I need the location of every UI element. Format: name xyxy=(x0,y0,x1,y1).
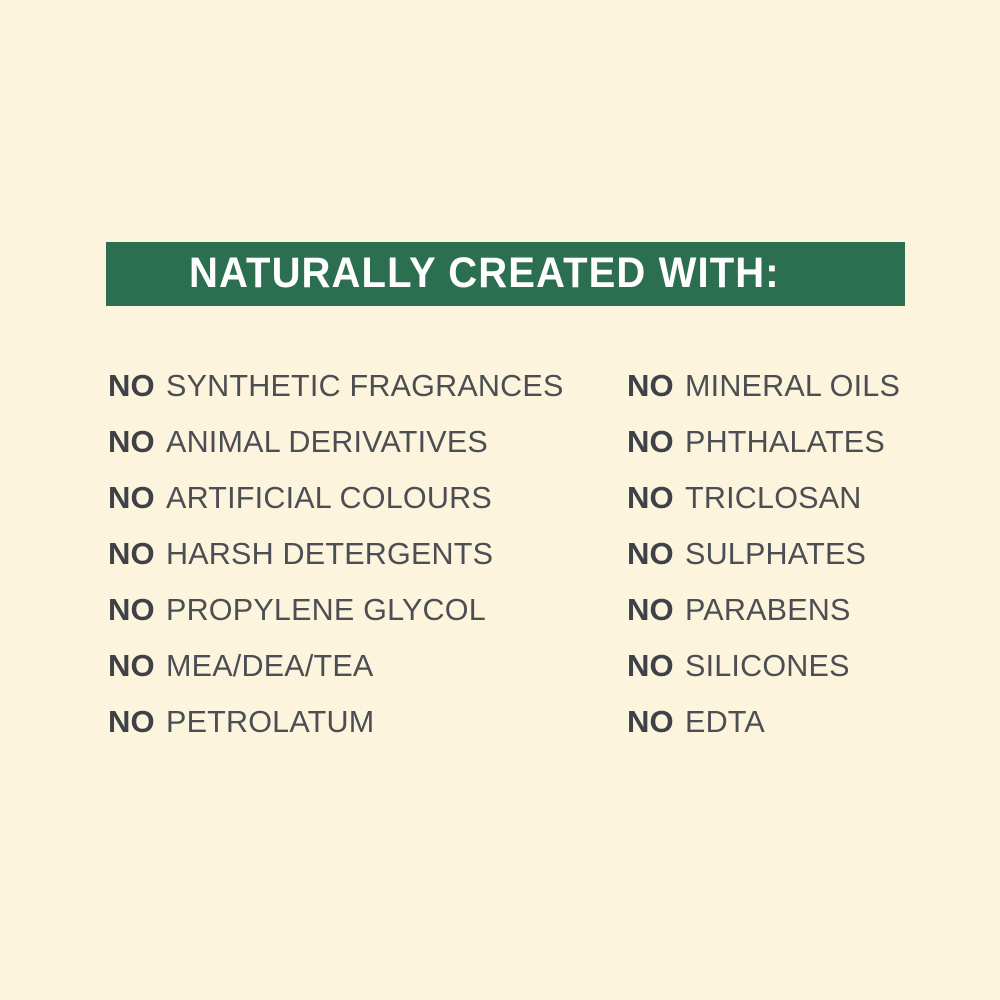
exclusion-label: SILICONES xyxy=(685,648,850,684)
list-item: NO SYNTHETIC FRAGRANCES xyxy=(108,368,569,424)
no-prefix-label: NO xyxy=(627,424,674,460)
exclusion-label: PROPYLENE GLYCOL xyxy=(166,592,486,628)
no-prefix-label: NO xyxy=(108,368,155,404)
list-item: NO HARSH DETERGENTS xyxy=(108,536,569,592)
exclusion-label: ANIMAL DERIVATIVES xyxy=(166,424,488,460)
exclusion-label: MINERAL OILS xyxy=(685,368,900,404)
exclusion-label: PHTHALATES xyxy=(685,424,885,460)
list-item: NO SULPHATES xyxy=(627,536,903,592)
exclusion-label: SULPHATES xyxy=(685,536,866,572)
no-prefix-label: NO xyxy=(108,480,155,516)
exclusion-list-left-column: NO SYNTHETIC FRAGRANCES NO ANIMAL DERIVA… xyxy=(108,368,569,760)
list-item: NO TRICLOSAN xyxy=(627,480,903,536)
no-prefix-label: NO xyxy=(108,424,155,460)
no-prefix-label: NO xyxy=(627,536,674,572)
list-item: NO ARTIFICIAL COLOURS xyxy=(108,480,569,536)
list-item: NO PETROLATUM xyxy=(108,704,569,760)
list-item: NO PARABENS xyxy=(627,592,903,648)
exclusion-label: SYNTHETIC FRAGRANCES xyxy=(166,368,564,404)
no-prefix-label: NO xyxy=(627,704,674,740)
exclusion-label: EDTA xyxy=(685,704,765,740)
list-item: NO PHTHALATES xyxy=(627,424,903,480)
exclusion-label: PETROLATUM xyxy=(166,704,374,740)
exclusion-list-right-column: NO MINERAL OILS NO PHTHALATES NO TRICLOS… xyxy=(627,368,903,760)
no-prefix-label: NO xyxy=(108,536,155,572)
no-prefix-label: NO xyxy=(108,648,155,684)
infographic-page: NATURALLY CREATED WITH: NO SYNTHETIC FRA… xyxy=(0,0,1000,1000)
list-item: NO MINERAL OILS xyxy=(627,368,903,424)
list-item: NO PROPYLENE GLYCOL xyxy=(108,592,569,648)
no-prefix-label: NO xyxy=(627,368,674,404)
list-item: NO ANIMAL DERIVATIVES xyxy=(108,424,569,480)
no-prefix-label: NO xyxy=(627,648,674,684)
banner-title: NATURALLY CREATED WITH: xyxy=(189,252,780,297)
banner-naturally-created-with: NATURALLY CREATED WITH: xyxy=(106,242,905,306)
list-item: NO MEA/DEA/TEA xyxy=(108,648,569,704)
no-prefix-label: NO xyxy=(627,592,674,628)
list-item: NO SILICONES xyxy=(627,648,903,704)
exclusion-label: PARABENS xyxy=(685,592,851,628)
exclusion-label: ARTIFICIAL COLOURS xyxy=(166,480,492,516)
exclusion-label: HARSH DETERGENTS xyxy=(166,536,493,572)
no-prefix-label: NO xyxy=(108,704,155,740)
no-prefix-label: NO xyxy=(627,480,674,516)
exclusion-label: TRICLOSAN xyxy=(685,480,862,516)
exclusion-label: MEA/DEA/TEA xyxy=(166,648,373,684)
no-prefix-label: NO xyxy=(108,592,155,628)
list-item: NO EDTA xyxy=(627,704,903,760)
